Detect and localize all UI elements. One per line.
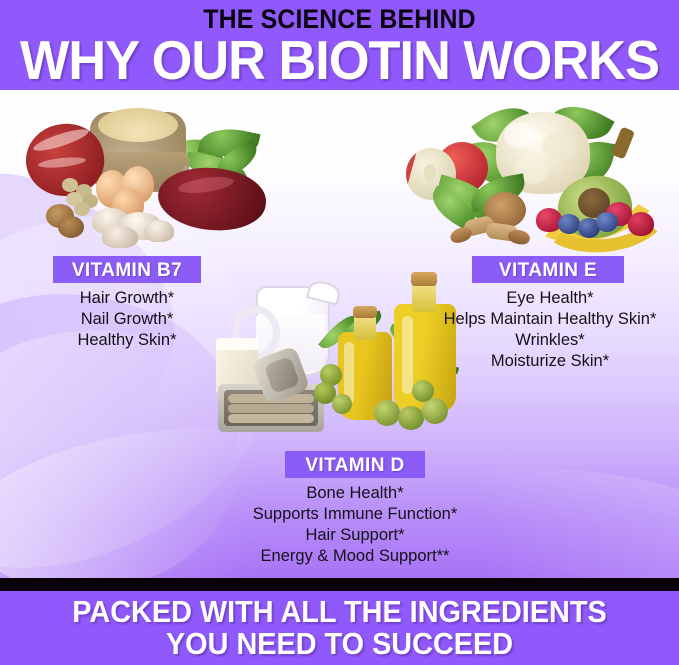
vitamin-b7-food-photo	[18, 100, 286, 252]
vitamin-e-food-photo	[392, 100, 664, 252]
vitamin-d-food-photo	[216, 280, 462, 448]
vitamin-d-benefits: Bone Health* Supports Immune Function* H…	[215, 483, 495, 567]
footer-band: PACKED WITH ALL THE INGREDIENTS YOU NEED…	[0, 591, 679, 665]
benefit-item: Moisturize Skin*	[434, 351, 666, 372]
benefit-item: Bone Health*	[215, 483, 495, 504]
benefit-item: Wrinkles*	[434, 330, 666, 351]
benefit-item: Healthy Skin*	[17, 330, 237, 351]
vitamin-e-badge: VITAMIN E	[472, 256, 624, 283]
vitamin-e-benefits: Eye Health* Helps Maintain Healthy Skin*…	[434, 288, 666, 372]
footer-line-1: PACKED WITH ALL THE INGREDIENTS	[24, 595, 655, 628]
page-title: WHY OUR BIOTIN WORKS	[17, 31, 662, 89]
infographic-root: THE SCIENCE BEHIND WHY OUR BIOTIN WORKS	[0, 0, 679, 665]
vitamin-d-badge: VITAMIN D	[285, 451, 425, 478]
benefit-item: Hair Growth*	[17, 288, 237, 309]
benefit-item: Supports Immune Function*	[215, 504, 495, 525]
footer-line-2: YOU NEED TO SUCCEED	[24, 627, 655, 660]
vitamin-b7-benefits: Hair Growth* Nail Growth* Healthy Skin*	[17, 288, 237, 351]
benefit-item: Energy & Mood Support**	[215, 546, 495, 567]
vitamin-b7-badge: VITAMIN B7	[53, 256, 201, 283]
benefit-item: Nail Growth*	[17, 309, 237, 330]
header-band: THE SCIENCE BEHIND WHY OUR BIOTIN WORKS	[0, 0, 679, 90]
benefit-item: Hair Support*	[215, 525, 495, 546]
benefit-item: Eye Health*	[434, 288, 666, 309]
benefit-item: Helps Maintain Healthy Skin*	[434, 309, 666, 330]
footer-divider-rule	[0, 578, 679, 591]
